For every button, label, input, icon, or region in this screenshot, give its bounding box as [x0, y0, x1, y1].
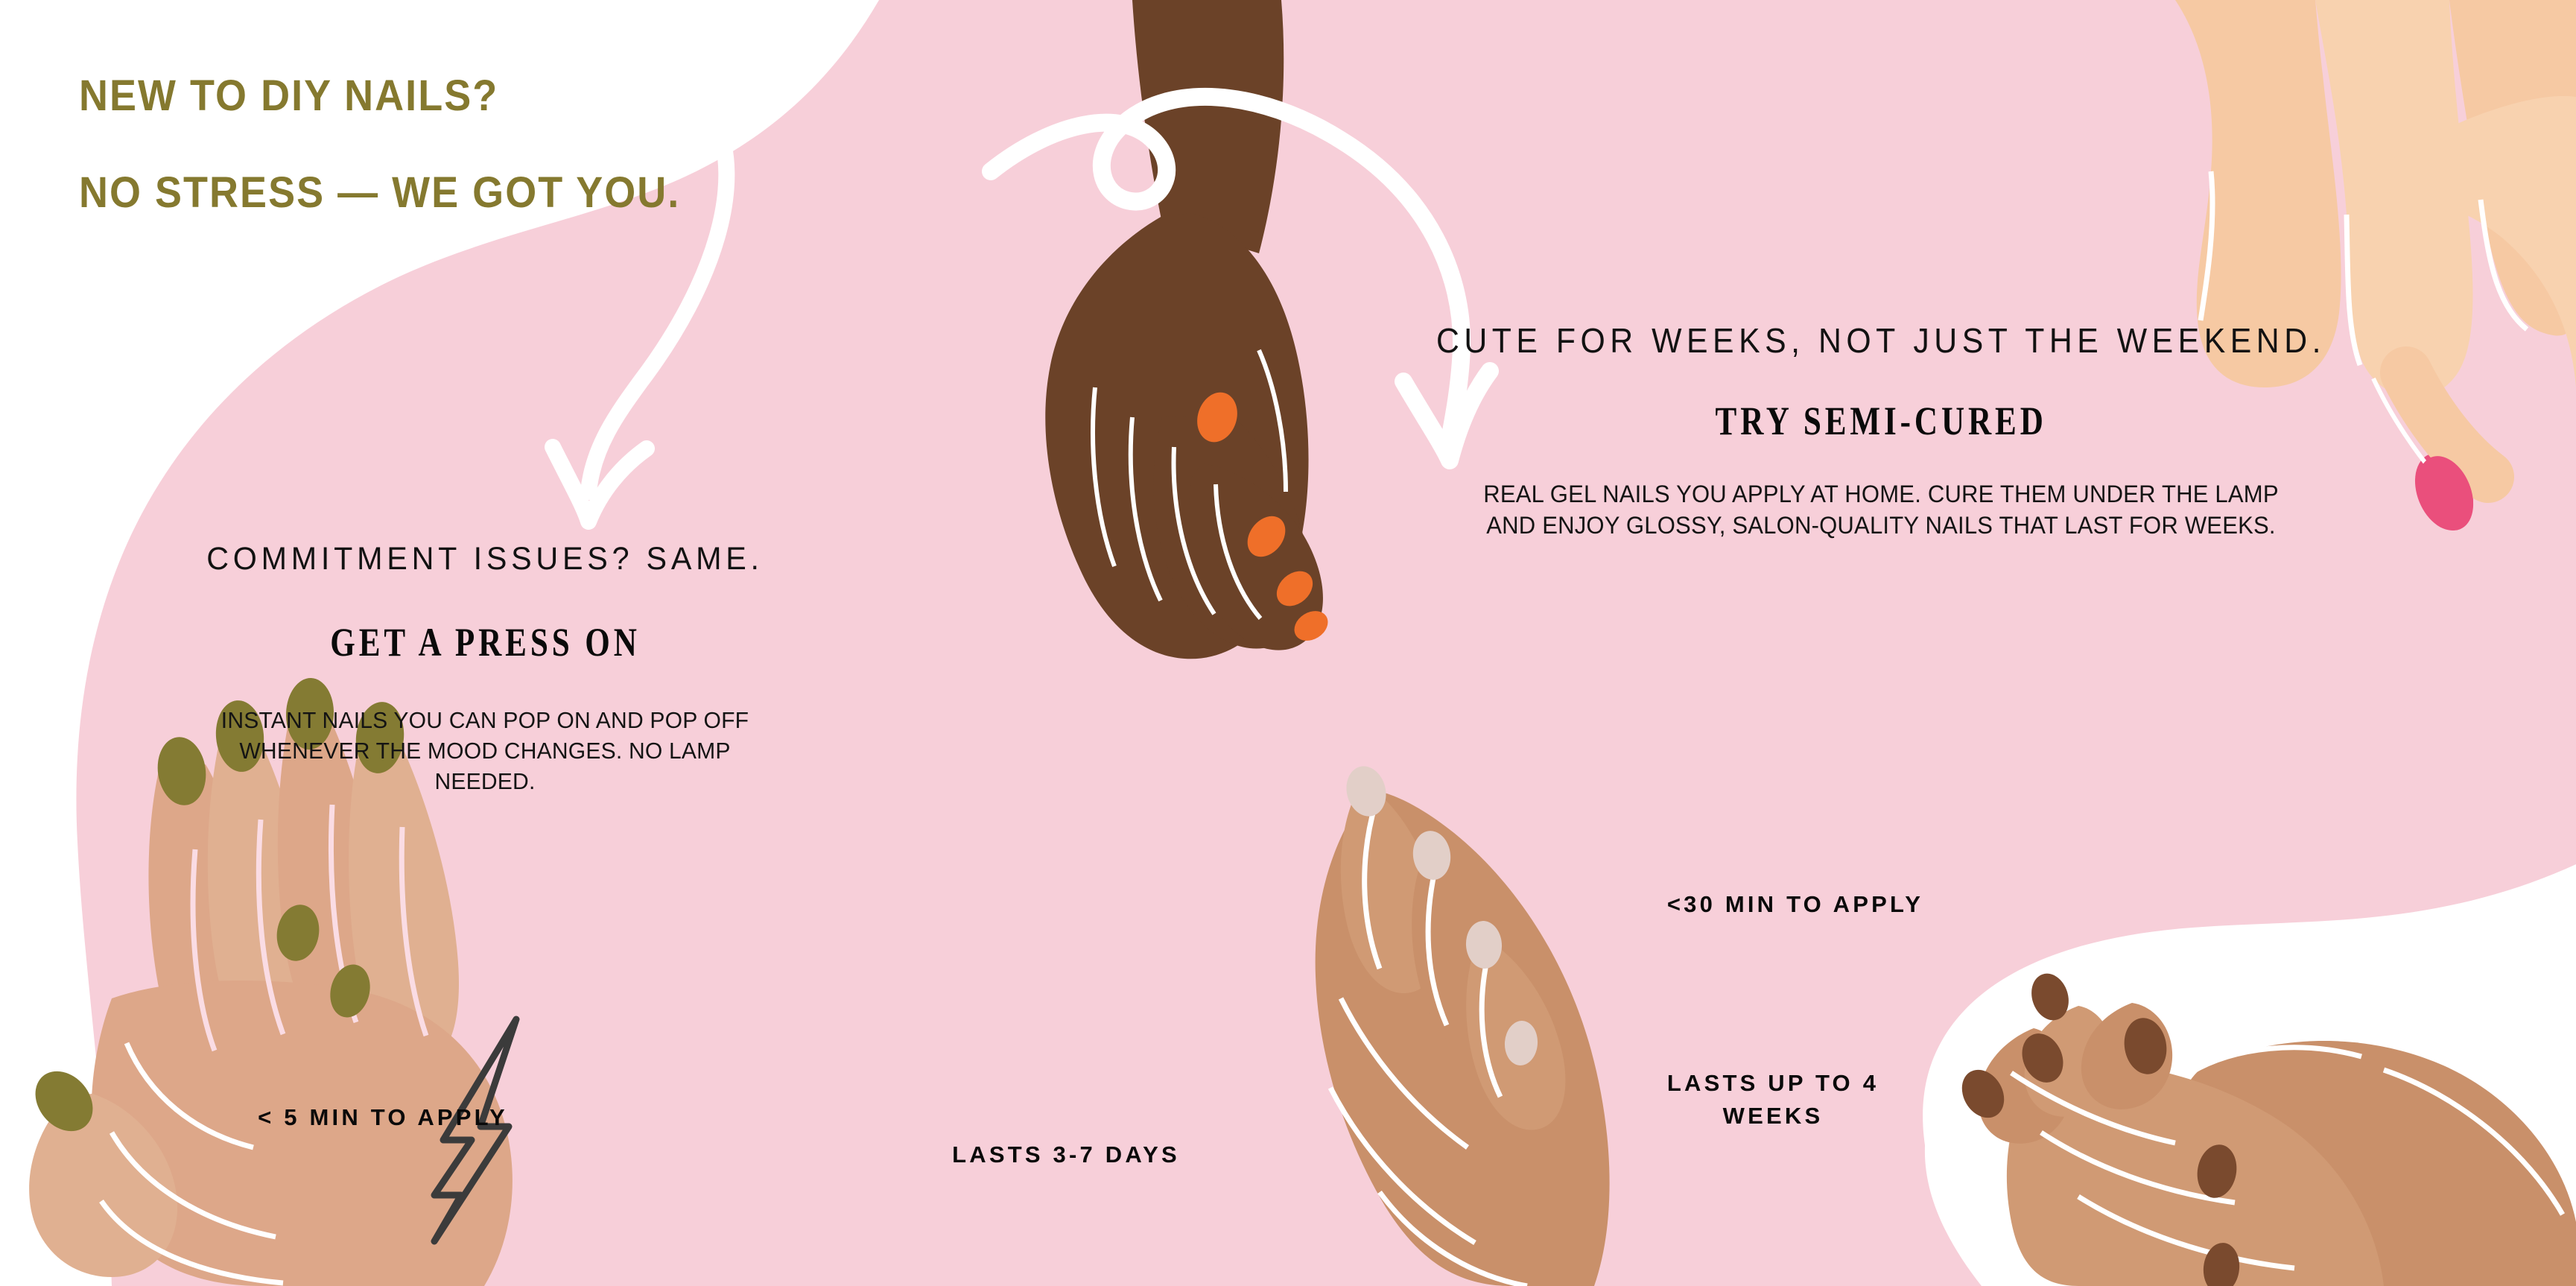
left-subheading: COMMITMENT ISSUES? SAME. — [203, 536, 767, 582]
right-stat-apply-time: <30 MIN TO APPLY — [1639, 888, 1952, 921]
infographic-canvas: NEW TO DIY NAILS? NO STRESS — WE GOT YOU… — [0, 0, 2576, 1286]
left-body-copy: INSTANT NAILS YOU CAN POP ON AND POP OFF… — [200, 705, 770, 797]
right-heading: TRY SEMI-CURED — [1715, 399, 2046, 445]
left-column: COMMITMENT ISSUES? SAME. GET A PRESS ON … — [191, 536, 779, 797]
right-subheading: CUTE FOR WEEKS, NOT JUST THE WEEKEND. — [1371, 317, 2390, 365]
left-stat-apply-time: < 5 MIN TO APPLY — [256, 1101, 510, 1134]
left-heading: GET A PRESS ON — [330, 619, 641, 665]
right-body-copy: REAL GEL NAILS YOU APPLY AT HOME. CURE T… — [1476, 479, 2285, 541]
left-stat-duration: LASTS 3-7 DAYS — [951, 1138, 1181, 1171]
headline-line-2: NO STRESS — WE GOT YOU. — [79, 169, 1049, 218]
page-headline: NEW TO DIY NAILS? NO STRESS — WE GOT YOU… — [79, 24, 1049, 266]
right-stat-duration: LASTS UP TO 4 WEEKS — [1617, 1067, 1929, 1133]
headline-line-1: NEW TO DIY NAILS? — [79, 72, 1049, 121]
right-column: CUTE FOR WEEKS, NOT JUST THE WEEKEND. TR… — [1333, 317, 2429, 542]
